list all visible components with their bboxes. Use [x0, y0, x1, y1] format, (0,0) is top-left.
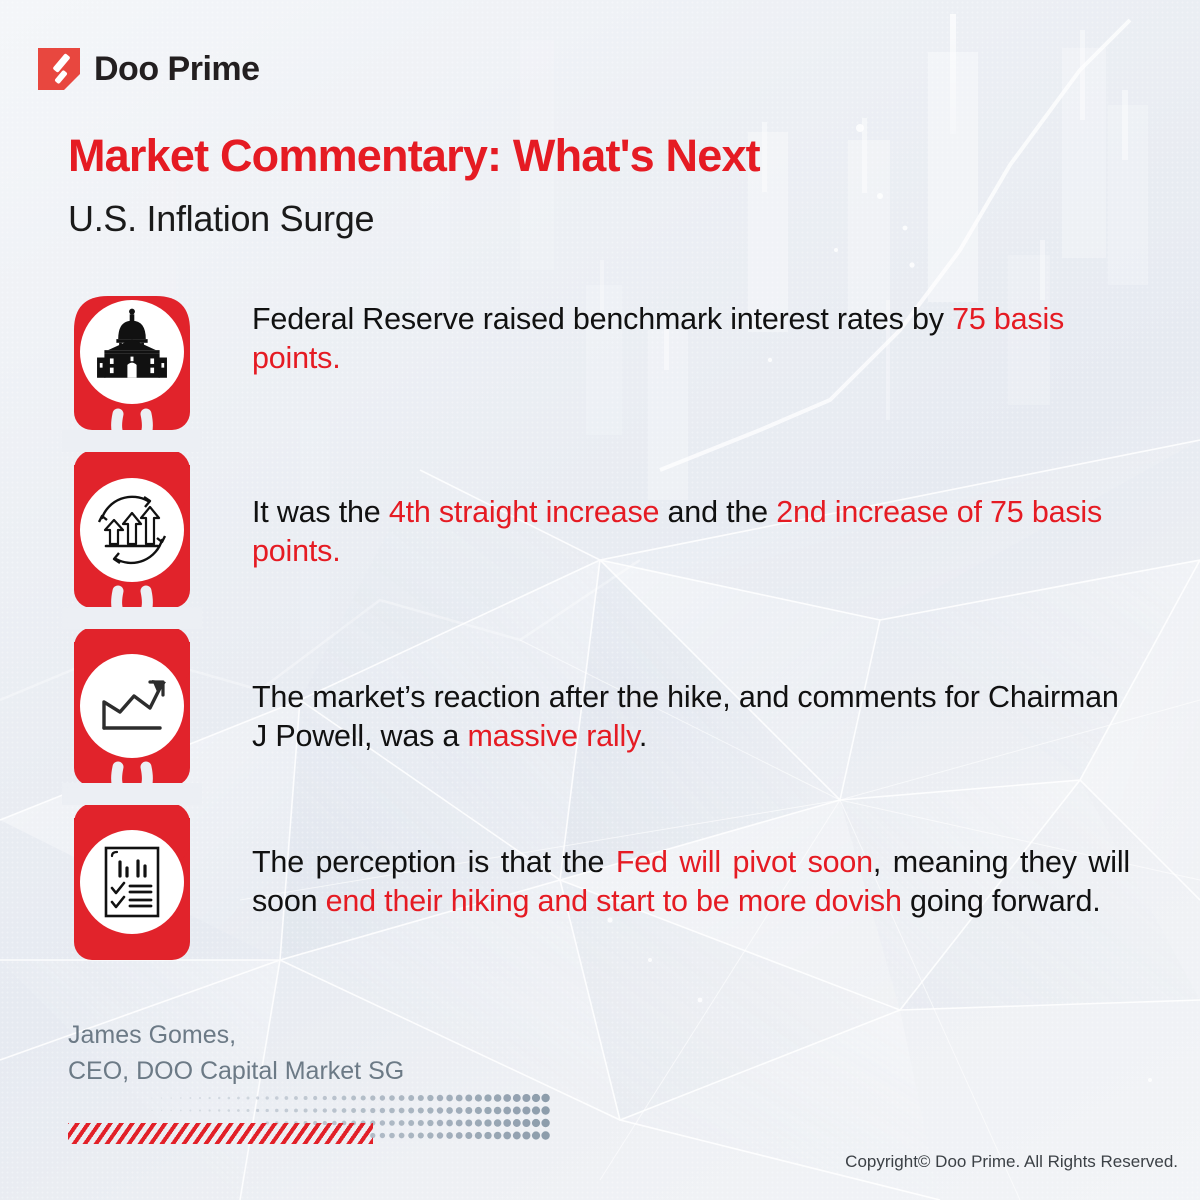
- icon-chain-rail: [62, 290, 202, 950]
- highlighted-text: Fed will pivot soon: [616, 845, 873, 879]
- commentary-point-2: It was the 4th straight increase and the…: [252, 493, 1130, 570]
- body-text: going forward.: [902, 884, 1101, 918]
- body-text: .: [639, 719, 647, 753]
- body-text: and the: [659, 495, 776, 529]
- commentary-point-1: Federal Reserve raised benchmark interes…: [252, 300, 1130, 377]
- point-1-text: Federal Reserve raised benchmark interes…: [252, 300, 1130, 377]
- page-title: Market Commentary: What's Next: [68, 130, 760, 182]
- author-role: CEO, DOO Capital Market SG: [68, 1054, 404, 1090]
- commentary-point-4: The perception is that the Fed will pivo…: [252, 843, 1130, 920]
- body-text: The perception is that the: [252, 845, 616, 879]
- body-text: It was the: [252, 495, 389, 529]
- copyright-notice: Copyright© Doo Prime. All Rights Reserve…: [845, 1152, 1178, 1172]
- author-block: James Gomes, CEO, DOO Capital Market SG: [68, 1018, 404, 1089]
- red-stripe-decoration: [68, 1123, 373, 1144]
- highlighted-text: end their hiking and start to be more do…: [326, 884, 902, 918]
- doo-prime-logo-mark: [38, 48, 80, 90]
- author-name: James Gomes,: [68, 1018, 404, 1054]
- brand-name: Doo Prime: [94, 50, 260, 89]
- highlighted-text: 4th straight increase: [389, 495, 659, 529]
- commentary-point-3: The market’s reaction after the hike, an…: [252, 678, 1130, 755]
- body-text: The market’s reaction after the hike, an…: [252, 680, 1119, 753]
- point-2-text: It was the 4th straight increase and the…: [252, 493, 1130, 570]
- highlighted-text: massive rally: [467, 719, 638, 753]
- point-3-text: The market’s reaction after the hike, an…: [252, 678, 1130, 755]
- brand-logo: Doo Prime: [38, 48, 260, 90]
- point-4-text: The perception is that the Fed will pivo…: [252, 843, 1130, 920]
- body-text: Federal Reserve raised benchmark interes…: [252, 302, 952, 336]
- page-subtitle: U.S. Inflation Surge: [68, 198, 374, 240]
